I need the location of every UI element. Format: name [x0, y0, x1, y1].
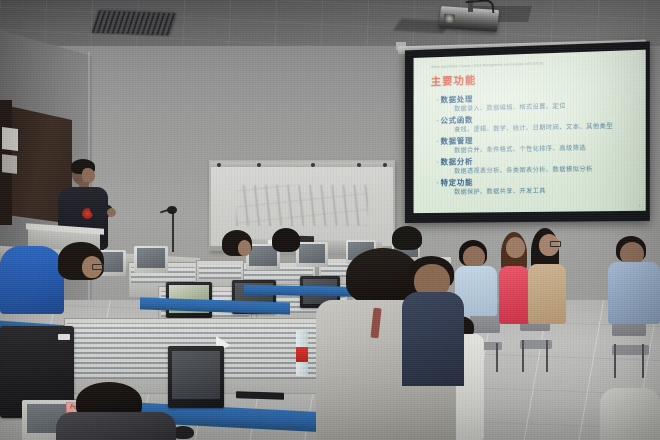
- bullet-heading: 数据分析: [441, 157, 474, 167]
- backpack: [0, 246, 64, 314]
- projected-slide-area: Office Automation Course | Data Manageme…: [414, 50, 646, 213]
- whiteboard-clip: [383, 163, 387, 167]
- student-blue-dress-shirt: [608, 236, 660, 348]
- student-head: [463, 246, 485, 268]
- projector-cable: [466, 0, 495, 15]
- water-bottle: [296, 330, 308, 376]
- glasses-icon: [92, 264, 104, 270]
- attendee-navy-shirt: [402, 256, 466, 386]
- student-head: [238, 240, 251, 256]
- whiteboard-clip: [257, 163, 261, 167]
- monitor-screen: [172, 351, 220, 399]
- bullet-heading: 数据处理: [441, 95, 474, 106]
- whiteboard-erased-writing: [236, 185, 367, 227]
- attendee-torso: [402, 292, 464, 386]
- student-torso: [608, 262, 660, 324]
- bullet-heading: 数据管理: [441, 136, 474, 147]
- chair-leg: [642, 344, 644, 378]
- wall-notice-sheet-2: [2, 154, 17, 174]
- lab-student-head-left: [58, 242, 110, 298]
- student-head: [506, 237, 525, 258]
- bullet-heading: 公式函数: [441, 115, 474, 126]
- attendee-torso: [56, 412, 176, 440]
- chair-leg: [522, 340, 524, 372]
- whiteboard-clip: [357, 163, 361, 167]
- lab-monitor: [134, 246, 168, 273]
- chair-leg: [496, 343, 498, 372]
- attendee-torso: [600, 388, 660, 440]
- instructor-face: [82, 168, 95, 183]
- classroom-photo: Office Automation Course | Data Manageme…: [0, 0, 660, 440]
- projector-lens-icon: [444, 14, 455, 24]
- projection-screen: Office Automation Course | Data Manageme…: [405, 41, 650, 223]
- glasses-icon: [550, 241, 561, 247]
- microphone-icon: [167, 206, 177, 214]
- student-hair: [392, 226, 422, 250]
- chair-leg: [546, 340, 548, 372]
- student-tan-jacket: [528, 228, 572, 340]
- bullet-subtext: 数据保护、数据共享、开发工具: [454, 186, 637, 197]
- wall-notice-sheet: [2, 127, 18, 151]
- monitor-screen: [137, 248, 166, 268]
- presentation-slide: Office Automation Course | Data Manageme…: [414, 50, 646, 213]
- bottle-label: [296, 347, 308, 362]
- student-torso: [528, 264, 566, 324]
- bullet-heading: 特定功能: [441, 178, 474, 188]
- whiteboard-clip: [311, 163, 315, 167]
- attendee-dark-jacket: [56, 382, 176, 440]
- student-torso: [499, 266, 529, 324]
- lab-student-back: [272, 228, 300, 260]
- chair-leg: [614, 344, 616, 378]
- lab-student-back: [222, 230, 252, 264]
- slide-title: 主要功能: [431, 67, 638, 89]
- lab-monitor-foreground-3: [168, 346, 224, 408]
- monitor-logo: [58, 334, 70, 340]
- whiteboard-rail: [211, 162, 393, 167]
- divider-glass-panel: [199, 265, 241, 279]
- microphone-stand: [172, 212, 174, 252]
- attendee-right-foreground: [600, 382, 660, 440]
- slide-page-number: 5: [639, 204, 641, 208]
- ceiling-vent-icon: [92, 11, 176, 36]
- student-hair: [272, 228, 300, 252]
- slide-bullet-list: ▪ 数据处理 数据录入、数据编辑、格式设置、定位 ▪ 公式函数 查找、逻辑、数学…: [437, 90, 638, 197]
- instructor-hand: [107, 208, 116, 217]
- whiteboard-clip: [217, 163, 221, 167]
